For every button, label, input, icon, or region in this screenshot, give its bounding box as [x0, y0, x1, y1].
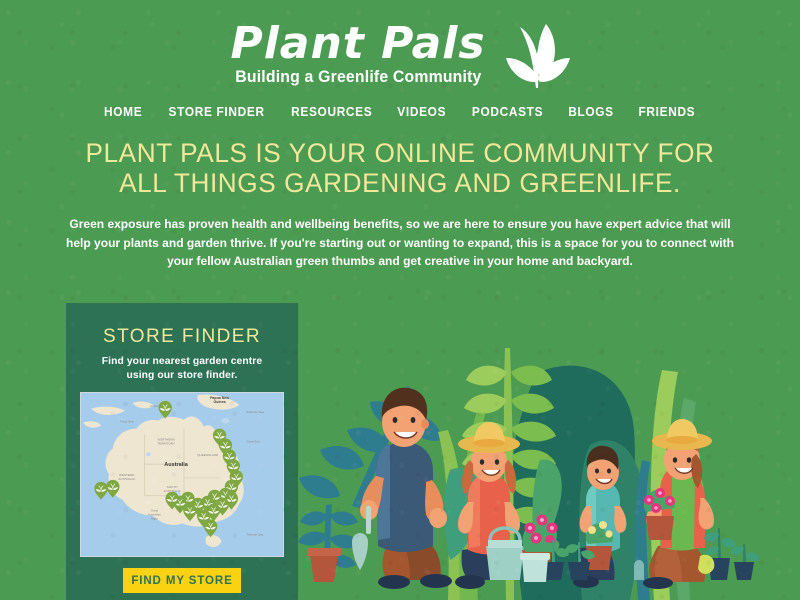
svg-text:QUEENSLAND: QUEENSLAND [197, 453, 219, 457]
svg-text:Bight: Bight [151, 516, 158, 520]
svg-text:Tasman Sea: Tasman Sea [247, 532, 264, 536]
svg-text:Coral Sea: Coral Sea [247, 439, 260, 443]
brand-tagline: Building a Greenlife Community [235, 67, 481, 87]
svg-text:TERRITORY: TERRITORY [157, 441, 175, 445]
family-gardening-illustration [290, 310, 800, 600]
find-my-store-button[interactable]: FIND MY STORE [123, 568, 241, 593]
nav-item-store-finder[interactable]: STORE FINDER [168, 105, 264, 119]
australia-map[interactable]: Papua New Guinea Arafura Sea Solomon Sea… [80, 392, 284, 557]
store-finder-title: STORE FINDER [80, 326, 284, 348]
leaf-sprout-icon [498, 16, 574, 92]
store-finder-card: STORE FINDER Find your nearest garden ce… [66, 303, 298, 600]
brand-name: Plant Pals [226, 19, 491, 69]
nav-item-friends[interactable]: FRIENDS [638, 105, 695, 119]
nav-item-blogs[interactable]: BLOGS [568, 105, 614, 119]
nav-item-videos[interactable]: VIDEOS [398, 105, 447, 119]
svg-text:Timor Sea: Timor Sea [120, 420, 134, 424]
nav-item-home[interactable]: HOME [104, 105, 142, 119]
svg-text:AUSTRALIA: AUSTRALIA [118, 477, 136, 481]
logo-text: Plant Pals Building a Greenlife Communit… [226, 19, 491, 87]
store-finder-subtitle: Find your nearest garden centre using ou… [91, 355, 273, 383]
main-navigation: HOME STORE FINDER RESOURCES VIDEOS PODCA… [0, 105, 800, 119]
nav-item-resources[interactable]: RESOURCES [291, 105, 372, 119]
hero-headline: PLANT PALS IS YOUR ONLINE COMMUNITY FOR … [61, 138, 740, 198]
hero-body-text: Green exposure has proven health and wel… [61, 215, 740, 271]
nav-item-podcasts[interactable]: PODCASTS [472, 105, 543, 119]
svg-text:Australia: Australia [164, 462, 189, 468]
svg-text:Guinea: Guinea [214, 400, 226, 404]
logo[interactable]: Plant Pals Building a Greenlife Communit… [0, 14, 800, 92]
svg-text:Solomon Sea: Solomon Sea [246, 410, 264, 414]
site-header: Plant Pals Building a Greenlife Communit… [0, 0, 800, 92]
